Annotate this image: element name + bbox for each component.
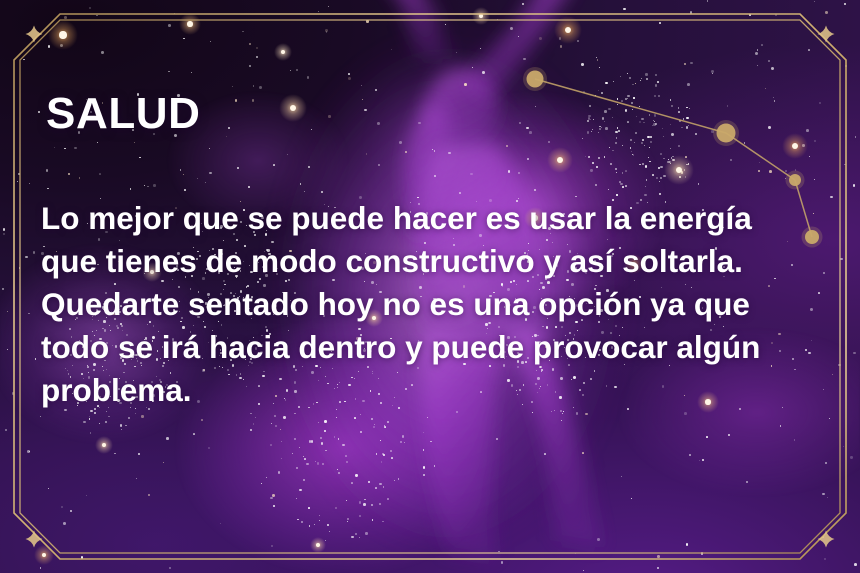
- body-line: Quedarte sentado hoy no es una opción ya…: [41, 283, 816, 326]
- body-line: problema.: [41, 369, 816, 412]
- card-content: SALUD Lo mejor que se puede hacer es usa…: [0, 0, 860, 573]
- horoscope-body-text: Lo mejor que se puede hacer es usar la e…: [41, 197, 816, 412]
- body-line: todo se irá hacia dentro y puede provoca…: [41, 326, 816, 369]
- body-line: Lo mejor que se puede hacer es usar la e…: [41, 197, 816, 240]
- horoscope-card: SALUD Lo mejor que se puede hacer es usa…: [0, 0, 860, 573]
- page-title: SALUD: [46, 92, 201, 136]
- body-line: que tienes de modo constructivo y así so…: [41, 240, 816, 283]
